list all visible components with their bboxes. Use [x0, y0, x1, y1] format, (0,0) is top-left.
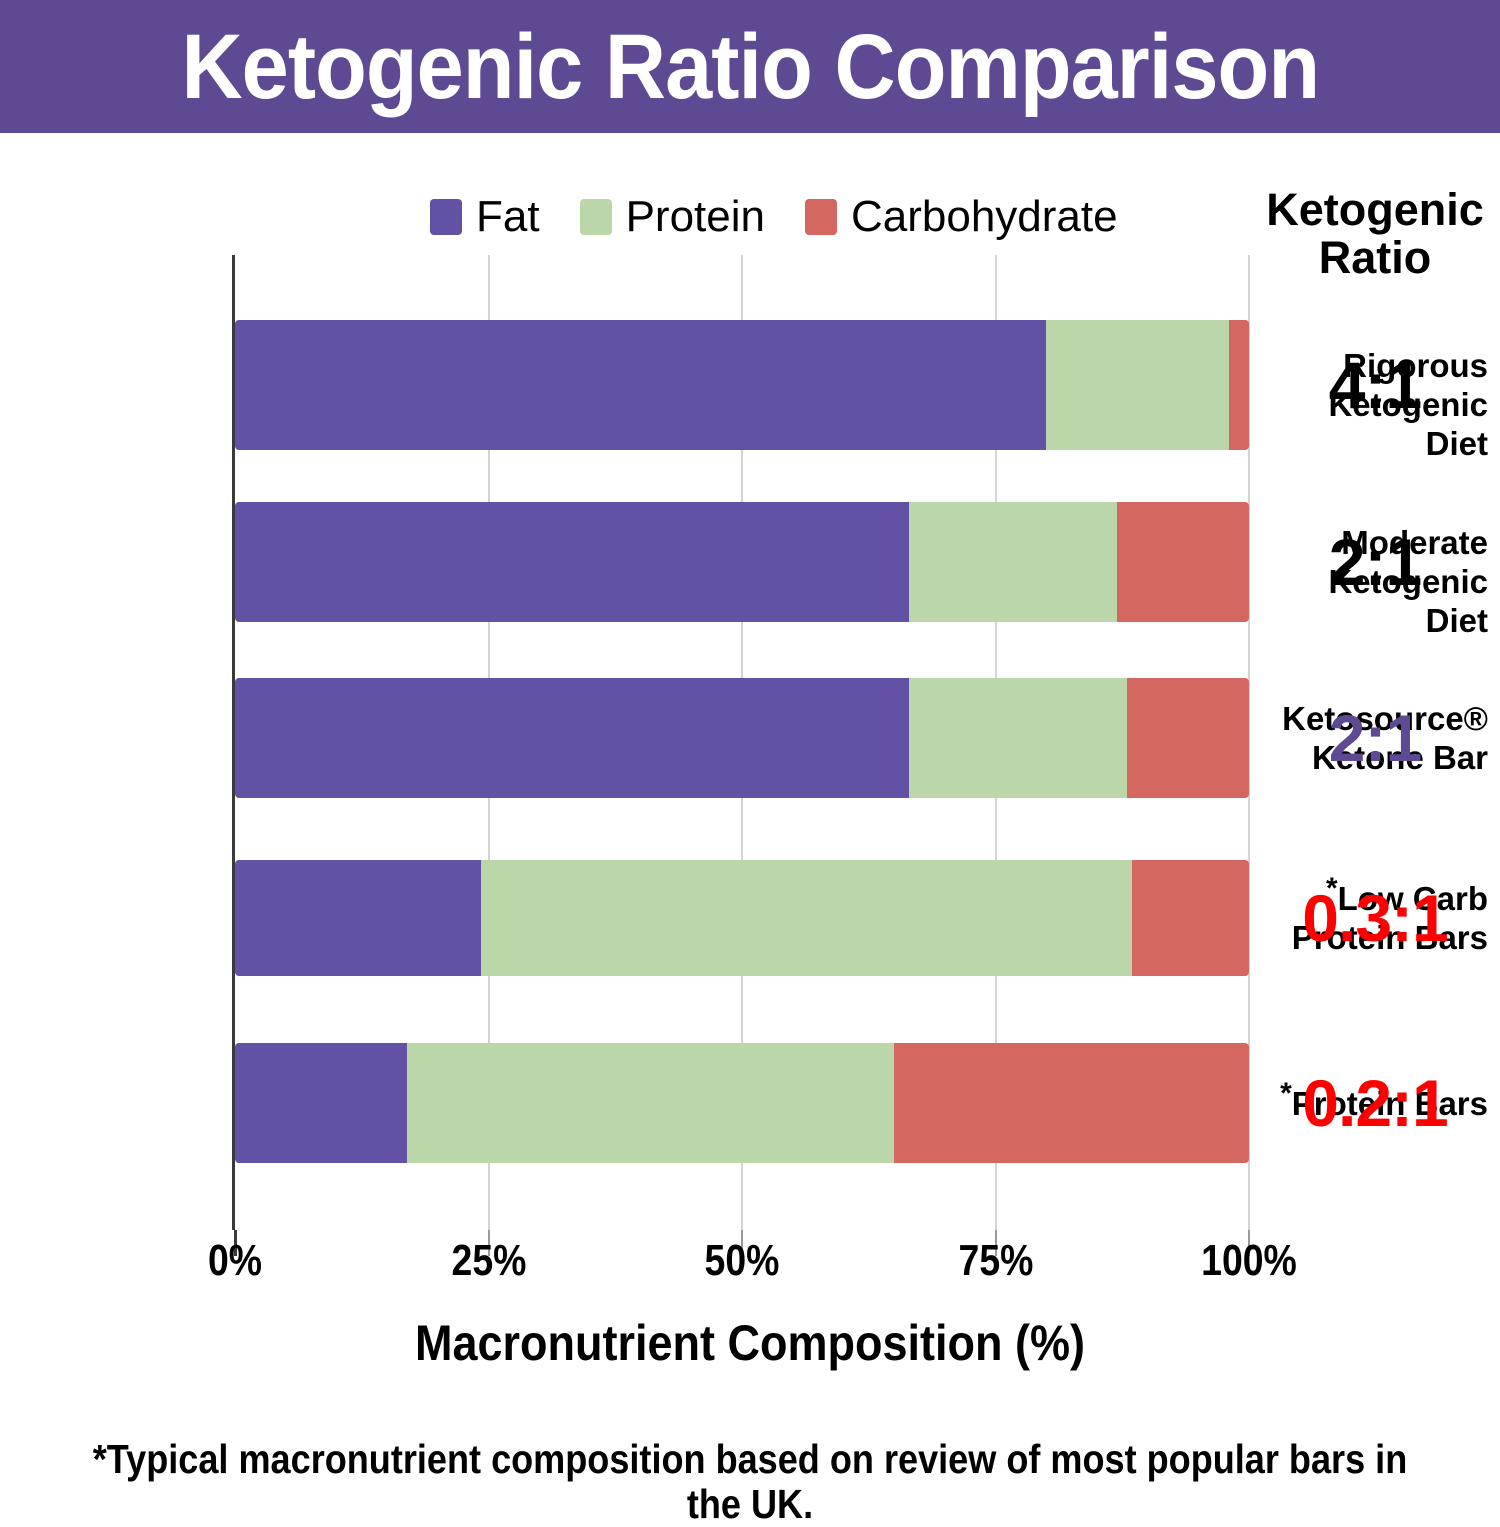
bar-segment-carbohydrate[interactable]: [1117, 502, 1249, 622]
plot-area: [235, 255, 1249, 1230]
x-tick-label-25: 25%: [421, 1238, 557, 1284]
x-axis-title: Macronutrient Composition (%): [75, 1316, 1425, 1370]
bar-row[interactable]: [235, 860, 1249, 976]
bar-row[interactable]: [235, 678, 1249, 798]
footnote: *Typical macronutrient composition based…: [90, 1437, 1410, 1527]
ratio-value: 4:1: [1250, 352, 1500, 418]
ratio-value: 0.2:1: [1250, 1070, 1500, 1136]
legend-swatch-protein: [580, 199, 612, 235]
legend-item-fat[interactable]: Fat: [430, 195, 540, 239]
x-tick-label-0: 0%: [167, 1238, 303, 1284]
x-tick-label-100: 100%: [1181, 1238, 1317, 1284]
legend-label-carbohydrate: Carbohydrate: [851, 195, 1118, 239]
bar-segment-fat[interactable]: [235, 860, 481, 976]
bar-segment-carbohydrate[interactable]: [1229, 320, 1249, 450]
title-banner: Ketogenic Ratio Comparison: [0, 0, 1500, 133]
legend-label-fat: Fat: [476, 195, 540, 239]
bar-segment-protein[interactable]: [407, 1043, 894, 1163]
bar-segment-fat[interactable]: [235, 502, 909, 622]
legend-swatch-fat: [430, 199, 462, 235]
legend-swatch-carbohydrate: [805, 199, 837, 235]
bar-row[interactable]: [235, 320, 1249, 450]
bar-row[interactable]: [235, 1043, 1249, 1163]
bar-segment-carbohydrate[interactable]: [1127, 678, 1249, 798]
ratio-header-line1: Ketogenic: [1250, 186, 1500, 234]
bar-segment-fat[interactable]: [235, 1043, 407, 1163]
chart-legend: Fat Protein Carbohydrate: [430, 190, 1110, 244]
bar-row[interactable]: [235, 502, 1249, 622]
page-title: Ketogenic Ratio Comparison: [181, 21, 1319, 113]
bar-segment-protein[interactable]: [481, 860, 1132, 976]
ratio-column-header: Ketogenic Ratio: [1250, 186, 1500, 282]
bar-segment-fat[interactable]: [235, 678, 909, 798]
legend-label-protein: Protein: [626, 195, 765, 239]
bar-segment-protein[interactable]: [1046, 320, 1229, 450]
legend-item-protein[interactable]: Protein: [580, 195, 765, 239]
x-tick-label-50: 50%: [674, 1238, 810, 1284]
bar-segment-carbohydrate[interactable]: [894, 1043, 1249, 1163]
ratio-header-line2: Ratio: [1250, 234, 1500, 282]
ratio-value: 2:1: [1250, 529, 1500, 595]
ratio-value: 2:1: [1250, 705, 1500, 771]
ratio-value: 0.3:1: [1250, 885, 1500, 951]
bar-segment-fat[interactable]: [235, 320, 1046, 450]
bar-segment-protein[interactable]: [909, 678, 1127, 798]
x-tick-label-75: 75%: [928, 1238, 1064, 1284]
bar-segment-protein[interactable]: [909, 502, 1117, 622]
bar-segment-carbohydrate[interactable]: [1132, 860, 1249, 976]
legend-item-carbohydrate[interactable]: Carbohydrate: [805, 195, 1118, 239]
